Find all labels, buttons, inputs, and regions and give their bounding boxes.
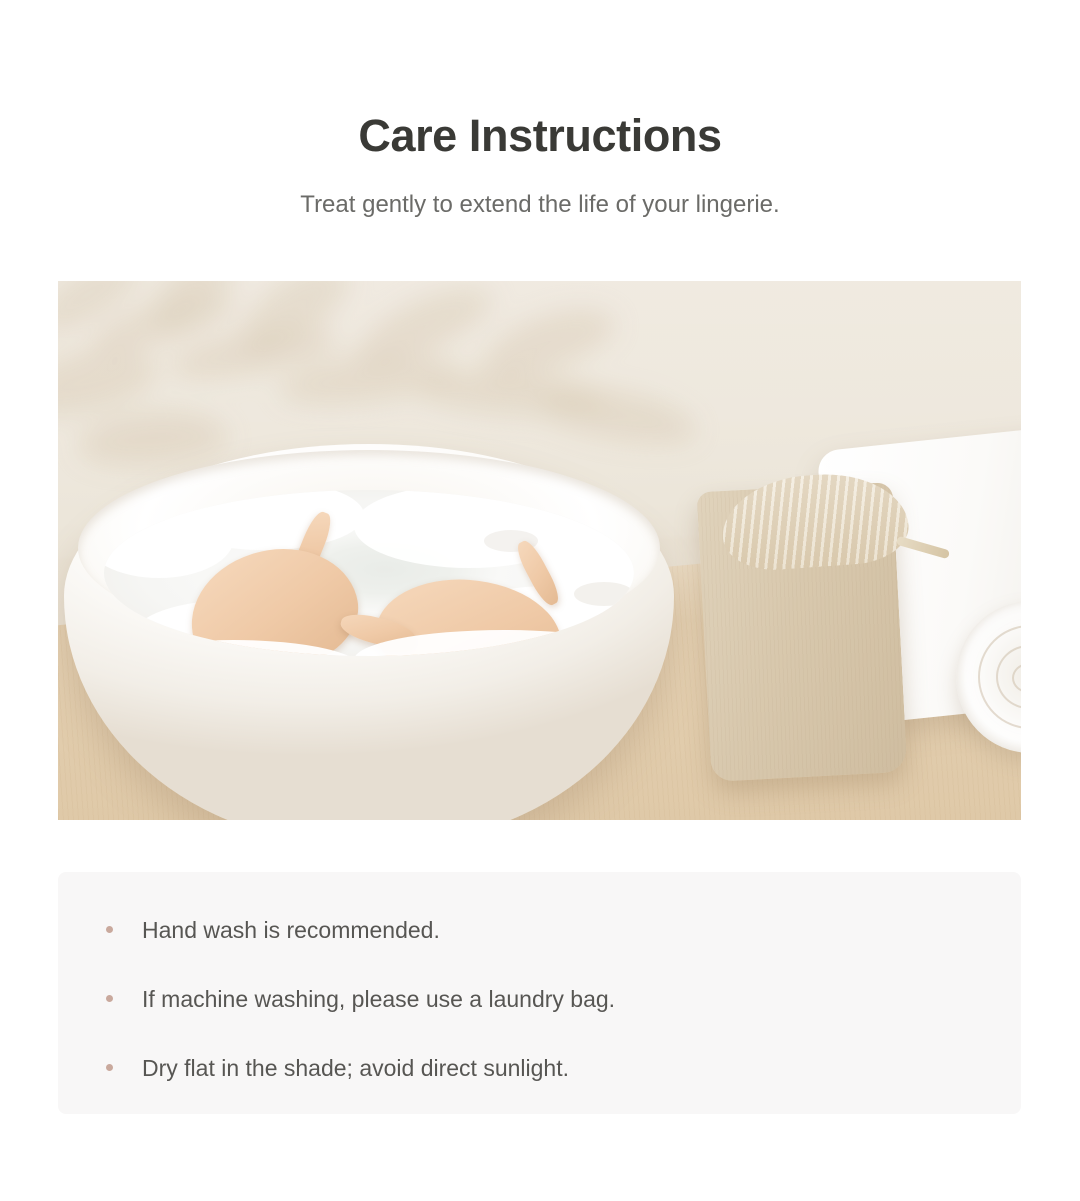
bullet-icon	[106, 1064, 113, 1071]
page-subtitle: Treat gently to extend the life of your …	[0, 159, 1080, 220]
list-item: If machine washing, please use a laundry…	[106, 985, 1021, 1014]
soapy-water	[104, 490, 634, 656]
page-header: Care Instructions Treat gently to extend…	[0, 0, 1080, 220]
list-item: Hand wash is recommended.	[106, 916, 1021, 945]
hero-photo-background	[58, 281, 1021, 820]
list-item-label: Hand wash is recommended.	[142, 916, 440, 945]
list-item-label: If machine washing, please use a laundry…	[142, 985, 615, 1014]
page-title: Care Instructions	[0, 112, 1080, 159]
list-item: Dry flat in the shade; avoid direct sunl…	[106, 1054, 1021, 1083]
care-instructions-page: Care Instructions Treat gently to extend…	[0, 0, 1080, 1201]
care-instructions-list: Hand wash is recommended. If machine was…	[58, 872, 1021, 1082]
ceramic-bowl	[64, 444, 674, 820]
bullet-icon	[106, 926, 113, 933]
care-hero-image	[58, 281, 1021, 820]
bullet-icon	[106, 995, 113, 1002]
care-instructions-card: Hand wash is recommended. If machine was…	[58, 872, 1021, 1114]
list-item-label: Dry flat in the shade; avoid direct sunl…	[142, 1054, 569, 1083]
